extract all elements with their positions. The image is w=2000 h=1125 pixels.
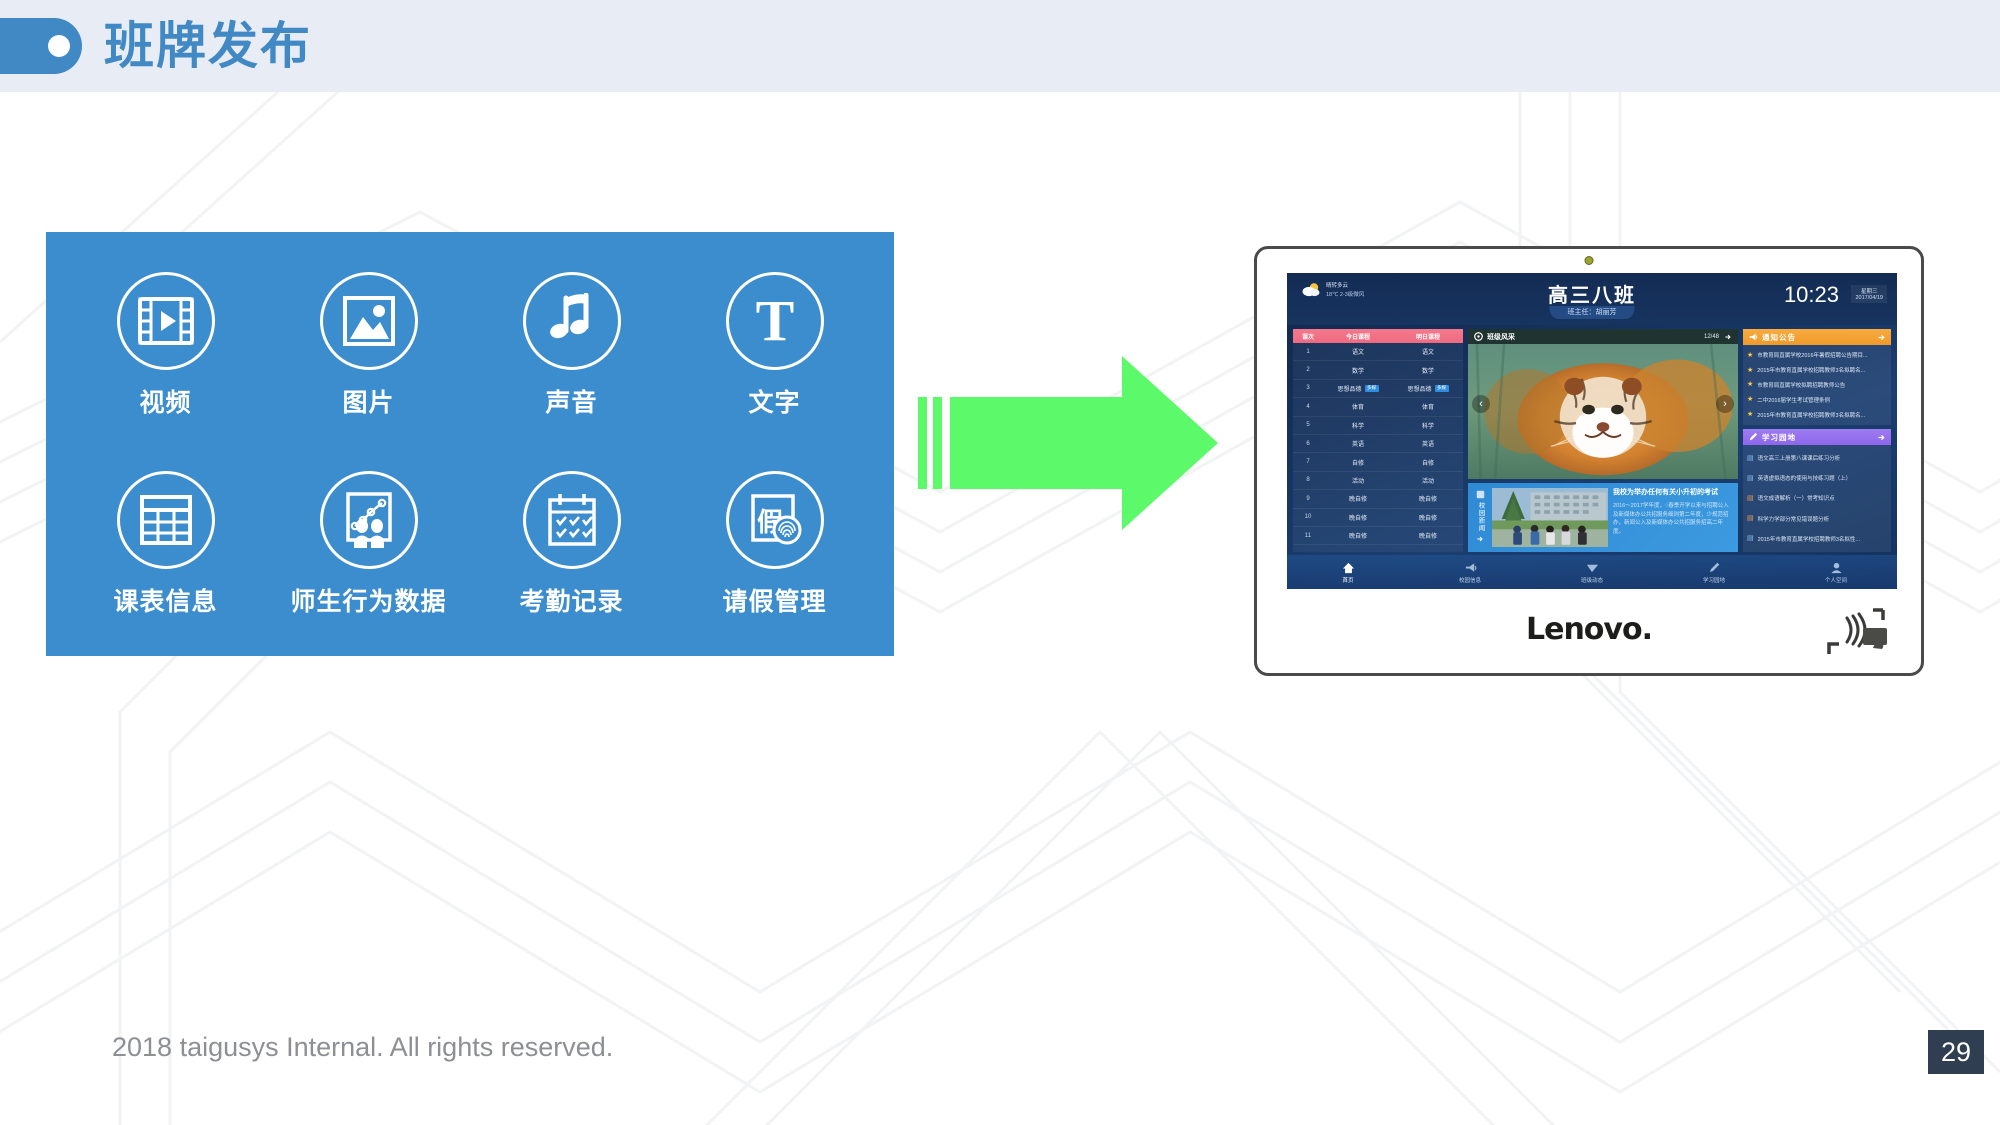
schedule-cell-tomorrow: 思想品德多媒 (1393, 384, 1463, 393)
schedule-col-no: 课次 (1293, 332, 1323, 341)
screen-topbar: 晴转多云 18℃ 2-3级微风 高三八班 班主任：胡丽芳 10:23 星期三 2… (1287, 273, 1897, 325)
document-icon: ▤ (1747, 495, 1754, 502)
image-picture-icon (342, 295, 396, 347)
megaphone-icon (1464, 561, 1477, 575)
notice-item-text: 2015年市教育直属学校招聘教师3名拟聘名... (1757, 366, 1865, 374)
nav-item-send[interactable]: 班级动态 (1531, 555, 1653, 589)
notice-list-item[interactable]: ★市教育局直属学校2016年暑假招聘公告期目... (1747, 351, 1887, 359)
nav-item-label: 首页 (1342, 576, 1353, 584)
schedule-cell-tomorrow: 英语 (1393, 439, 1463, 448)
schedule-tag: 多媒 (1365, 385, 1379, 392)
user-icon (1830, 561, 1843, 575)
feature-label: 课表信息 (113, 582, 217, 618)
class-board-screen: 晴转多云 18℃ 2-3级微风 高三八班 班主任：胡丽芳 10:23 星期三 2… (1287, 273, 1897, 589)
nav-item-label: 学习园地 (1703, 576, 1725, 584)
date-box: 星期三 2017/04/19 (1851, 285, 1887, 303)
schedule-rows: 1语文语文2数学数学3思想品德多媒思想品德多媒4体育体育5科学科学6英语英语7自… (1293, 343, 1463, 545)
nav-item-megaphone[interactable]: 校园信息 (1409, 555, 1531, 589)
feature-label: 声音 (545, 383, 597, 419)
news-side-label: 校园新闻 (1475, 502, 1485, 532)
notice-item-text: 二中2016届学生考试管理条例 (1757, 396, 1830, 404)
schedule-cell-no: 9 (1293, 496, 1323, 502)
gallery-prev-button[interactable]: ‹ (1472, 395, 1490, 413)
schedule-cell-tomorrow: 活动 (1393, 476, 1463, 485)
notice-list-item[interactable]: ★二中2016届学生考试管理条例 (1747, 396, 1887, 404)
nav-item-label: 校园信息 (1459, 576, 1481, 584)
study-item-text: 科学力学部分常见错误题分析 (1758, 515, 1830, 523)
schedule-tag: 多媒 (1435, 385, 1449, 392)
schedule-row: 8活动活动 (1293, 472, 1463, 490)
notice-panel-title: 通知公告 (1762, 332, 1796, 343)
schedule-cell-no: 3 (1293, 385, 1323, 391)
music-note-icon (546, 293, 598, 349)
chevron-right-icon: › (1723, 398, 1727, 410)
notice-list-item[interactable]: ★市教育局直属学校拟聘招聘教师公告 (1747, 381, 1887, 389)
notice-list-item[interactable]: ★2015年市教育直属学校招聘教师3名拟聘名... (1747, 411, 1887, 419)
page-number-badge: 29 (1928, 1030, 1984, 1074)
study-item-text: 语文成语解析（一）常考知识点 (1758, 494, 1835, 502)
schedule-cell-today: 科学 (1323, 421, 1393, 430)
schedule-cell-no: 10 (1293, 514, 1323, 520)
star-icon: ★ (1747, 381, 1753, 388)
schedule-row: 3思想品德多媒思想品德多媒 (1293, 380, 1463, 398)
screen-body: 课次 今日课程 明日课程 1语文语文2数学数学3思想品德多媒思想品德多媒4体育体… (1287, 325, 1897, 552)
document-icon: ▤ (1747, 535, 1754, 542)
arrow-right-icon[interactable] (1724, 333, 1732, 341)
feature-item-image[interactable]: 图片 (267, 246, 470, 445)
schedule-row: 4体育体育 (1293, 398, 1463, 416)
calendar-check-icon (545, 492, 599, 548)
notice-list: ★市教育局直属学校2016年暑假招聘公告期目...★2015年市教育直属学校招聘… (1743, 345, 1891, 425)
news-photo-students-campus (1492, 488, 1608, 547)
document-icon: ▤ (1747, 475, 1754, 482)
schedule-cell-today: 自修 (1323, 458, 1393, 467)
pencil-icon (1748, 432, 1758, 442)
schedule-cell-no: 8 (1293, 477, 1323, 483)
video-film-icon (138, 295, 194, 347)
study-list-item[interactable]: ▤语文成语解析（一）常考知识点 (1747, 494, 1887, 502)
gallery-next-button[interactable]: › (1716, 395, 1734, 413)
news-text-block: 我校为举办任何有关小升初的考试 2016～2017学年度，ं春季开学以来与招聘公… (1613, 488, 1733, 547)
news-side-rail: 校园新闻 (1473, 488, 1487, 547)
feature-label: 视频 (139, 383, 191, 419)
schedule-row: 11晚自修晚自修 (1293, 527, 1463, 545)
study-list-item[interactable]: ▤英语虚拟语态的使用与技练习题（上） (1747, 474, 1887, 482)
page-title: 班牌发布 (104, 8, 312, 84)
schedule-cell-no: 2 (1293, 367, 1323, 373)
news-headline: 我校为举办任何有关小升初的考试 (1613, 488, 1733, 498)
news-icon (1476, 490, 1485, 499)
schedule-cell-no: 1 (1293, 349, 1323, 355)
schedule-cell-tomorrow: 晚自修 (1393, 494, 1463, 503)
schedule-table: 课次 今日课程 明日课程 1语文语文2数学数学3思想品德多媒思想品德多媒4体育体… (1293, 329, 1463, 552)
schedule-col-today: 今日课程 (1323, 332, 1393, 341)
news-body: 2016～2017学年度，ं春季开学以来与招聘公入及新媒体办公共招服务细则第二年… (1613, 502, 1733, 536)
star-icon: ★ (1747, 396, 1753, 403)
schedule-col-tomorrow: 明日课程 (1393, 332, 1463, 341)
nav-item-label: 个人空间 (1825, 576, 1847, 584)
study-list: ▤语文高三上册第八课课后练习分析▤英语虚拟语态的使用与技练习题（上）▤语文成语解… (1743, 445, 1891, 552)
feature-item-video[interactable]: 视频 (64, 246, 267, 445)
chart-people-icon (342, 492, 396, 548)
schedule-row: 6英语英语 (1293, 435, 1463, 453)
feature-icon-wrap (117, 272, 215, 370)
right-column: 通知公告 ★市教育局直属学校2016年暑假招聘公告期目...★2015年市教育直… (1743, 329, 1891, 552)
nav-item-label: 班级动态 (1581, 576, 1603, 584)
megaphone-icon (1748, 332, 1758, 342)
flow-arrow (918, 352, 1238, 532)
study-list-item[interactable]: ▤语文高三上册第八课课后练习分析 (1747, 454, 1887, 462)
toggle-knob (48, 35, 70, 57)
feature-item-sound[interactable]: 声音 (470, 246, 673, 445)
schedule-cell-today: 语文 (1323, 347, 1393, 356)
arrow-right-icon[interactable] (1476, 535, 1484, 543)
home-icon (1342, 561, 1355, 575)
chevron-left-icon: ‹ (1479, 398, 1483, 410)
schedule-cell-tomorrow: 自修 (1393, 458, 1463, 467)
footer-copyright: 2018 taigusys Internal. All rights reser… (112, 1032, 613, 1063)
slide-root: 班牌发布 (0, 0, 2000, 1125)
arrow-right-icon[interactable] (1877, 333, 1886, 342)
schedule-cell-no: 4 (1293, 404, 1323, 410)
feature-label: 图片 (342, 383, 394, 419)
gallery-header: 班级风采 12/48 (1468, 329, 1738, 344)
schedule-cell-no: 7 (1293, 459, 1323, 465)
center-column: 班级风采 12/48 ‹ › (1468, 329, 1738, 552)
star-icon: ★ (1747, 352, 1753, 359)
notice-item-text: 市教育局直属学校拟聘招聘教师公告 (1757, 381, 1845, 389)
document-icon: ▤ (1747, 515, 1754, 522)
gallery-image-tiger-painting (1468, 344, 1738, 479)
study-panel-header: 学习园地 (1743, 429, 1891, 445)
feature-icon-wrap: T (726, 272, 824, 370)
schedule-cell-tomorrow: 数学 (1393, 366, 1463, 375)
feature-label: 请假管理 (722, 582, 826, 618)
schedule-cell-tomorrow: 科学 (1393, 421, 1463, 430)
feature-icon-wrap (320, 272, 418, 370)
gallery-counter: 12/48 (1704, 334, 1719, 340)
gallery-icon (1474, 332, 1483, 341)
table-grid-icon (139, 494, 193, 546)
date-label: 2017/04/19 (1855, 295, 1883, 301)
schedule-row: 7自修自修 (1293, 453, 1463, 471)
study-list-item[interactable]: ▤科学力学部分常见错误题分析 (1747, 515, 1887, 523)
svg-text:T: T (755, 294, 794, 348)
feature-label: 师生行为数据 (290, 582, 446, 618)
notice-item-text: 2015年市教育直属学校招聘教师3名拟聘名... (1757, 411, 1865, 419)
study-list-item[interactable]: ▤2015年市教育直属学校招聘教师3名拟性... (1747, 535, 1887, 543)
schedule-cell-no: 5 (1293, 422, 1323, 428)
feature-panel: 视频 图片 (46, 232, 894, 656)
schedule-cell-no: 11 (1293, 533, 1323, 539)
leave-fingerprint-icon: 假 (748, 493, 802, 547)
feature-icon-wrap (320, 471, 418, 569)
schedule-row: 9晚自修晚自修 (1293, 490, 1463, 508)
tablet-device: 晴转多云 18℃ 2-3级微风 高三八班 班主任：胡丽芳 10:23 星期三 2… (1254, 246, 1924, 676)
document-icon: ▤ (1747, 455, 1754, 462)
schedule-cell-today: 活动 (1323, 476, 1393, 485)
schedule-row: 1语文语文 (1293, 343, 1463, 361)
schedule-cell-today: 晚自修 (1323, 513, 1393, 522)
weekday-label: 星期三 (1855, 287, 1883, 295)
nfc-touch-icon (1821, 606, 1893, 663)
schedule-cell-tomorrow: 体育 (1393, 402, 1463, 411)
study-item-text: 2015年市教育直属学校招聘教师3名拟性... (1758, 535, 1860, 543)
feature-icon-wrap (117, 471, 215, 569)
send-icon (1586, 561, 1599, 575)
schedule-cell-today: 数学 (1323, 366, 1393, 375)
study-item-text: 语文高三上册第八课课后练习分析 (1758, 454, 1841, 462)
clock-time: 10:23 (1784, 283, 1839, 307)
feature-item-leave[interactable]: 假 请假管理 (673, 445, 876, 644)
schedule-header-row: 课次 今日课程 明日课程 (1293, 329, 1463, 343)
schedule-cell-tomorrow: 晚自修 (1393, 513, 1463, 522)
nav-item-home[interactable]: 首页 (1287, 555, 1409, 589)
nav-item-user[interactable]: 个人空间 (1775, 555, 1897, 589)
schedule-cell-tomorrow: 晚自修 (1393, 531, 1463, 540)
gallery-title: 班级风采 (1487, 332, 1515, 342)
schedule-cell-today: 晚自修 (1323, 494, 1393, 503)
feature-label: 考勤记录 (519, 582, 623, 618)
feature-icon-wrap (523, 471, 621, 569)
feature-item-text[interactable]: T 文字 (673, 246, 876, 445)
toggle-on-icon (0, 18, 82, 74)
notice-panel: 通知公告 ★市教育局直属学校2016年暑假招聘公告期目...★2015年市教育直… (1743, 329, 1891, 425)
study-panel-title: 学习园地 (1762, 432, 1796, 443)
star-icon: ★ (1747, 411, 1753, 418)
screen-bottom-nav: 首页校园信息班级动态学习园地个人空间 (1287, 555, 1897, 589)
star-icon: ★ (1747, 367, 1753, 374)
text-t-icon: T (749, 294, 801, 348)
campus-news-panel[interactable]: 校园新闻 (1468, 483, 1738, 552)
feature-item-attendance[interactable]: 考勤记录 (470, 445, 673, 644)
feature-icon-wrap (523, 272, 621, 370)
right-arrow-icon (918, 352, 1238, 532)
schedule-cell-today: 晚自修 (1323, 531, 1393, 540)
schedule-cell-tomorrow: 语文 (1393, 347, 1463, 356)
schedule-cell-today: 体育 (1323, 402, 1393, 411)
study-item-text: 英语虚拟语态的使用与技练习题（上） (1758, 474, 1852, 482)
nav-item-pencil[interactable]: 学习园地 (1653, 555, 1775, 589)
feature-item-behavior-data[interactable]: 师生行为数据 (267, 445, 470, 644)
slide-header: 班牌发布 (0, 0, 2000, 92)
arrow-right-icon[interactable] (1877, 433, 1886, 442)
feature-icon-wrap: 假 (726, 471, 824, 569)
schedule-row: 10晚自修晚自修 (1293, 509, 1463, 527)
notice-item-text: 市教育局直属学校2016年暑假招聘公告期目... (1757, 351, 1867, 359)
head-teacher-label: 班主任：胡丽芳 (1550, 306, 1635, 319)
feature-label: 文字 (748, 383, 800, 419)
schedule-row: 5科学科学 (1293, 417, 1463, 435)
schedule-cell-today: 英语 (1323, 439, 1393, 448)
schedule-cell-no: 6 (1293, 441, 1323, 447)
feature-item-schedule[interactable]: 课表信息 (64, 445, 267, 644)
class-gallery[interactable]: 班级风采 12/48 ‹ › (1468, 329, 1738, 479)
schedule-row: 2数学数学 (1293, 361, 1463, 379)
schedule-cell-today: 思想品德多媒 (1323, 384, 1393, 393)
feature-grid: 视频 图片 (46, 232, 894, 656)
notice-panel-header: 通知公告 (1743, 329, 1891, 345)
pencil-icon (1708, 561, 1721, 575)
notice-list-item[interactable]: ★2015年市教育直属学校招聘教师3名拟聘名... (1747, 366, 1887, 374)
study-panel: 学习园地 ▤语文高三上册第八课课后练习分析▤英语虚拟语态的使用与技练习题（上）▤… (1743, 429, 1891, 552)
camera-dot-icon (1585, 256, 1594, 265)
